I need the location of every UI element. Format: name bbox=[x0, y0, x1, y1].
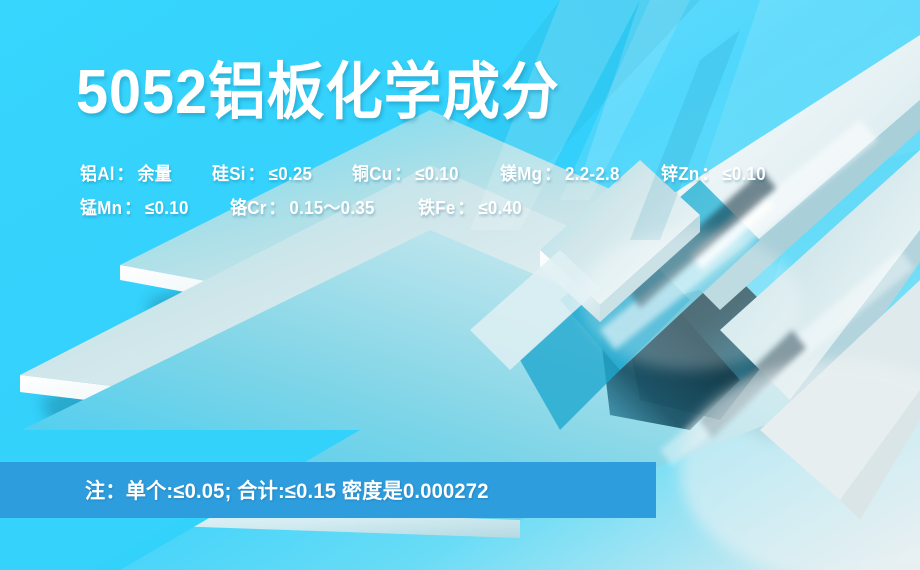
spec-colon-al: ： bbox=[117, 164, 134, 184]
page-title: 5052铝板化学成分 bbox=[76, 62, 560, 124]
spec-colon-mg: ： bbox=[544, 164, 561, 184]
spec-name-cu: 铜Cu bbox=[352, 164, 392, 184]
spec-value-cu: ≤0.10 bbox=[416, 164, 460, 184]
spec-name-si: 硅Si bbox=[212, 164, 246, 184]
spec-name-mn: 锰Mn bbox=[80, 198, 122, 218]
spec-value-fe: ≤0.40 bbox=[478, 198, 522, 218]
spec-value-cr: 0.15～0.35 bbox=[289, 198, 374, 218]
spec-value-mg: 2.2-2.8 bbox=[565, 164, 620, 184]
spec-colon-cu: ： bbox=[395, 164, 412, 184]
specular-glow bbox=[580, 230, 800, 370]
spec-colon-si: ： bbox=[247, 164, 264, 184]
spec-item-mn: 锰Mn：≤0.10 bbox=[80, 194, 189, 220]
spec-name-mg: 镁Mg bbox=[500, 164, 542, 184]
note-bar: 注：单个:≤0.05; 合计:≤0.15 密度是0.000272 bbox=[0, 462, 656, 518]
spec-colon-mn: ： bbox=[124, 198, 141, 218]
spec-item-cr: 铬Cr：0.15～0.35 bbox=[230, 194, 375, 220]
spec-name-al: 铝Al bbox=[80, 164, 115, 184]
spec-name-zn: 锌Zn bbox=[661, 164, 699, 184]
spec-colon-cr: ： bbox=[268, 198, 285, 218]
spec-value-al: 余量 bbox=[138, 164, 172, 184]
spec-value-zn: ≤0.10 bbox=[723, 164, 767, 184]
spec-value-mn: ≤0.10 bbox=[145, 198, 189, 218]
note-text: 注：单个:≤0.05; 合计:≤0.15 密度是0.000272 bbox=[85, 475, 489, 505]
spec-colon-fe: ： bbox=[457, 198, 474, 218]
composition-row-1: 铝Al：余量 硅Si：≤0.25 铜Cu：≤0.10 镁Mg：2.2-2.8 锌… bbox=[80, 160, 900, 186]
spec-value-si: ≤0.25 bbox=[268, 164, 312, 184]
spec-item-fe: 铁Fe：≤0.40 bbox=[418, 194, 522, 220]
composition-row-2: 锰Mn：≤0.10 铬Cr：0.15～0.35 铁Fe：≤0.40 bbox=[80, 194, 900, 220]
spec-item-si: 硅Si：≤0.25 bbox=[212, 160, 312, 186]
spec-item-cu: 铜Cu：≤0.10 bbox=[352, 160, 459, 186]
spec-item-mg: 镁Mg：2.2-2.8 bbox=[500, 160, 620, 186]
spec-colon-zn: ： bbox=[702, 164, 719, 184]
composition-list: 铝Al：余量 硅Si：≤0.25 铜Cu：≤0.10 镁Mg：2.2-2.8 锌… bbox=[80, 160, 900, 228]
aluminium-spec-banner: 5052铝板化学成分 铝Al：余量 硅Si：≤0.25 铜Cu：≤0.10 镁M… bbox=[0, 0, 920, 570]
spec-item-al: 铝Al：余量 bbox=[80, 160, 172, 186]
spec-item-zn: 锌Zn：≤0.10 bbox=[661, 160, 766, 186]
spec-name-cr: 铬Cr bbox=[230, 198, 267, 218]
spec-name-fe: 铁Fe bbox=[418, 198, 456, 218]
